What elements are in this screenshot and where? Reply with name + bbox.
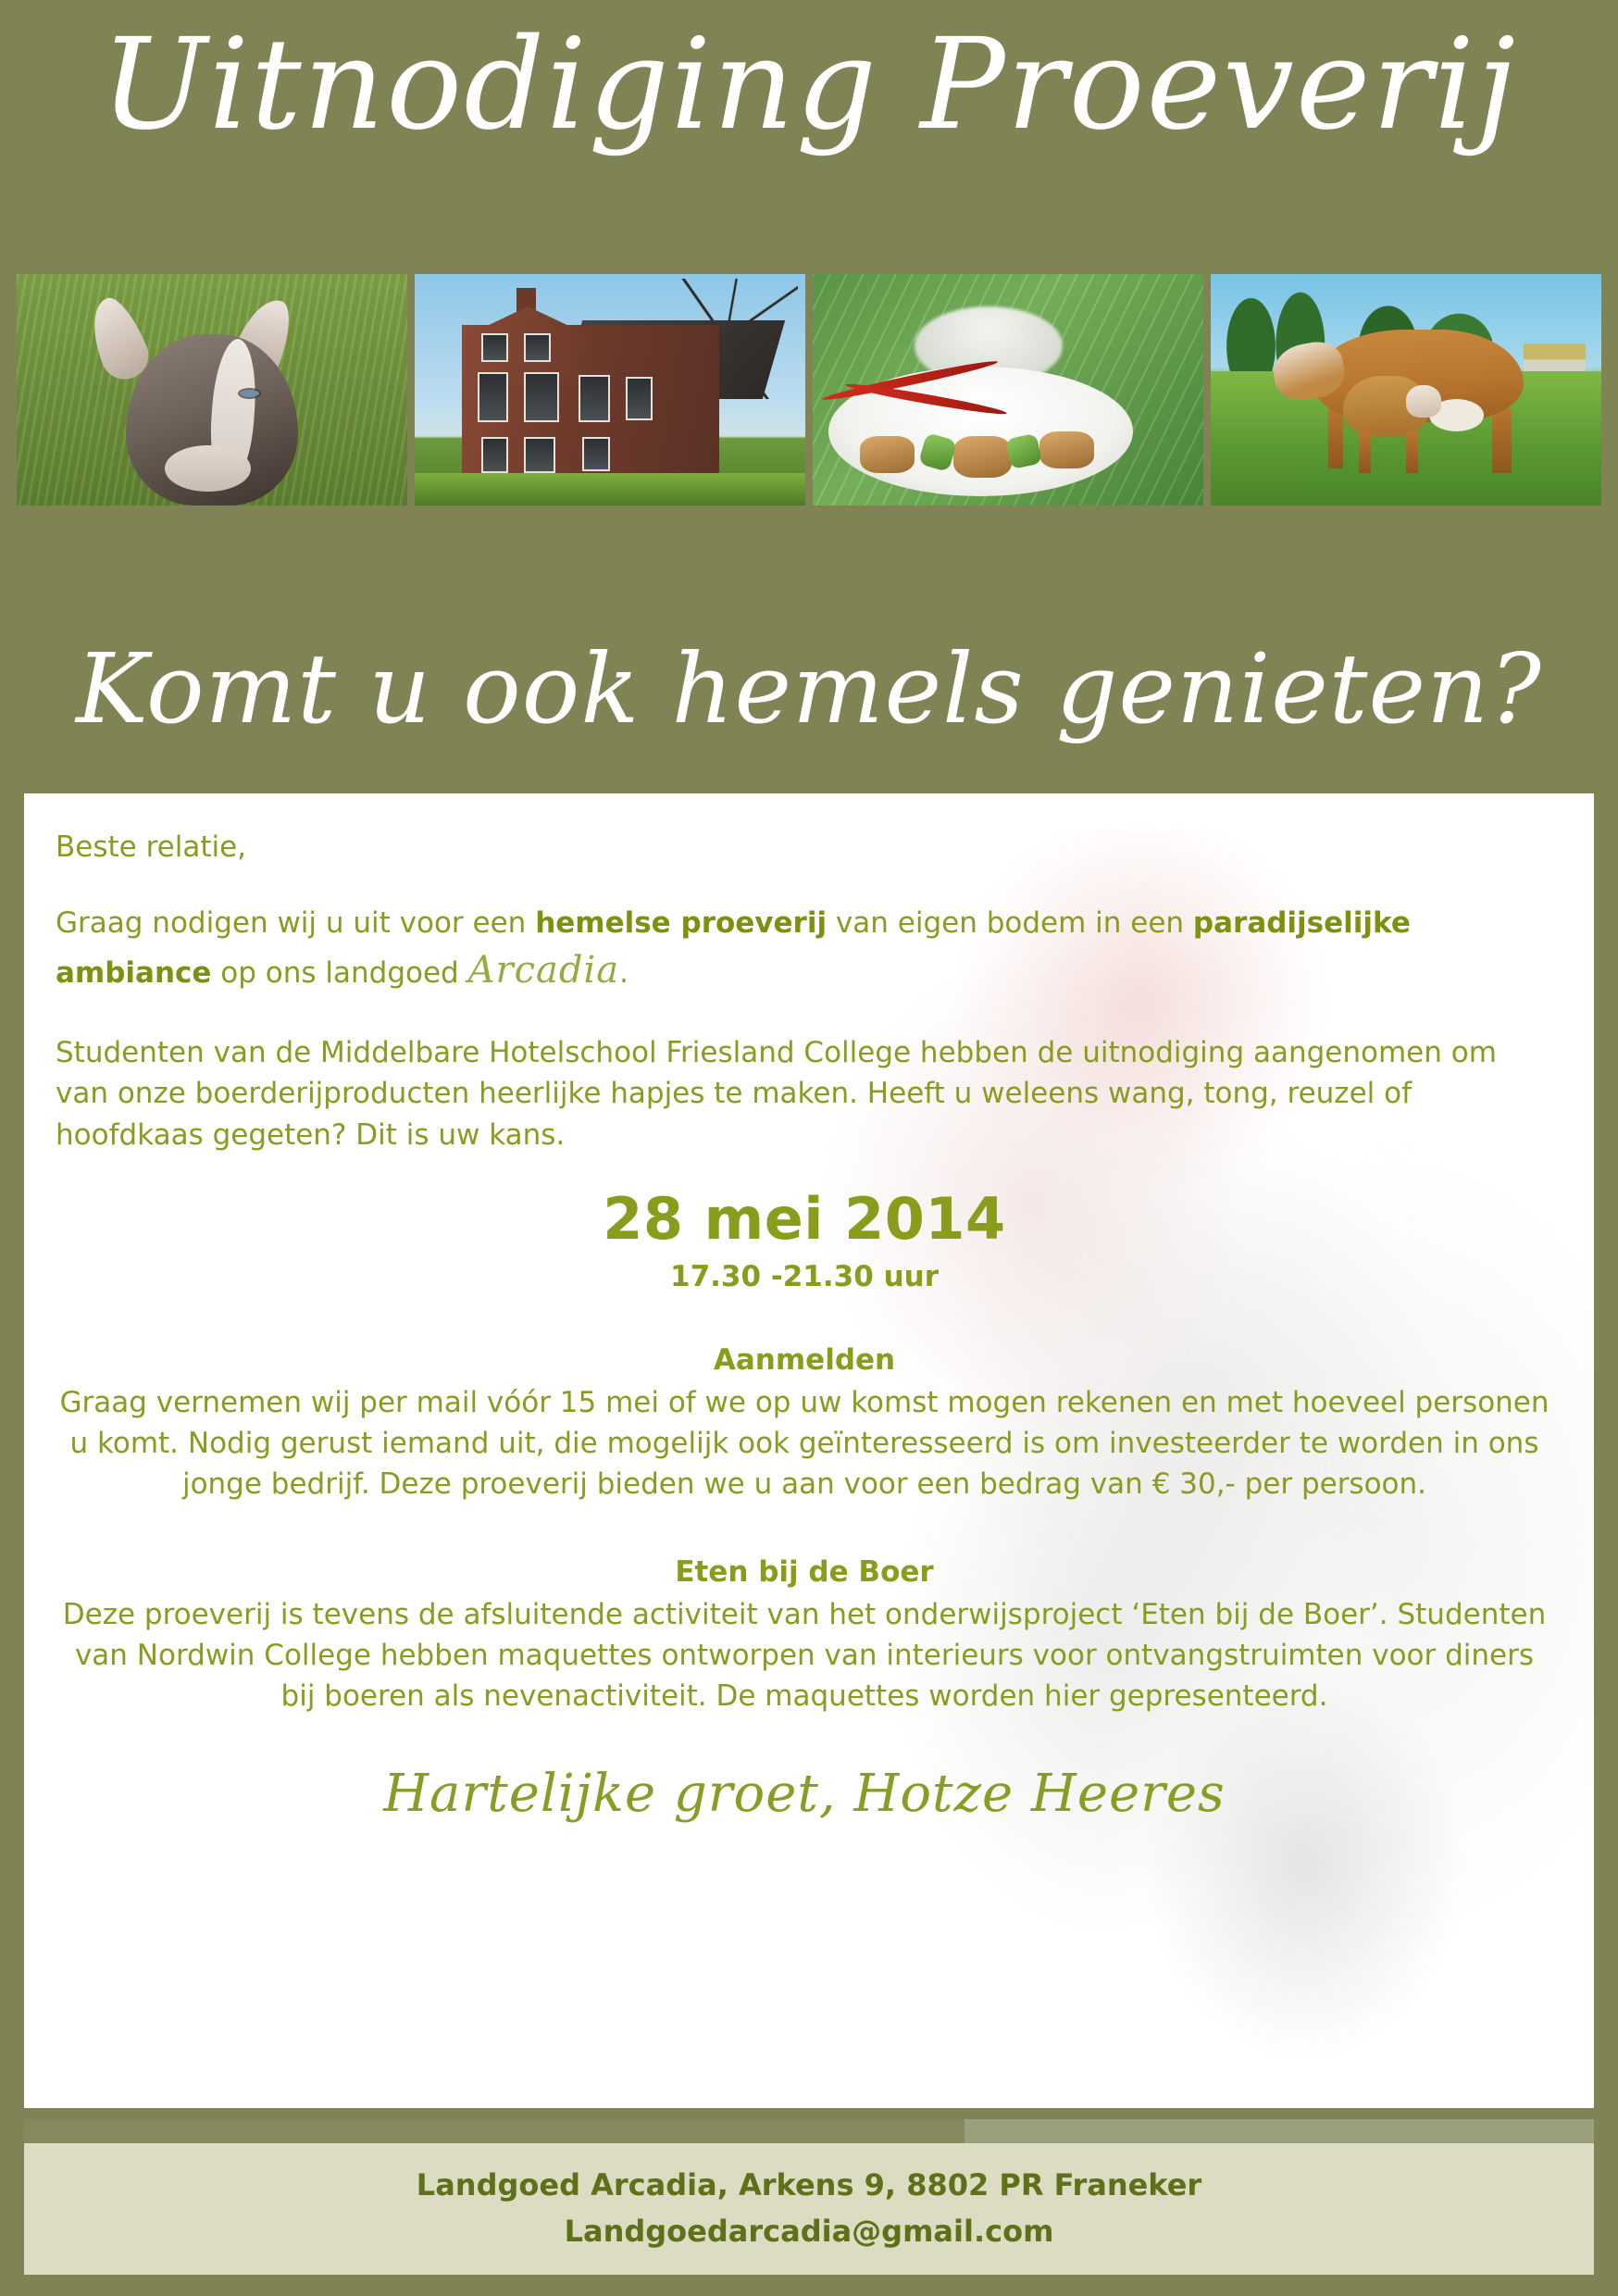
project-heading: Eten bij de Boer [56,1555,1553,1589]
calf-leg [1359,431,1371,473]
farmhouse-window [481,333,508,363]
page-subtitle: Komt u ook hemels genieten? [0,632,1618,745]
food-bite [860,436,915,473]
signup-heading: Aanmelden [56,1343,1553,1377]
signup-paragraph: Graag vernemen wij per mail vóór 15 mei … [56,1382,1553,1505]
cow-leg [1492,408,1512,473]
project-paragraph: Deze proeverij is tevens de afsluitende … [56,1594,1553,1717]
food-bite [953,436,1012,478]
footer: Landgoed Arcadia, Arkens 9, 8802 PR Fran… [24,2143,1594,2275]
salutation: Beste relatie, [56,827,1553,867]
farmhouse-window [582,437,609,471]
letter-content-box: Beste relatie, Graag nodigen wij u uit v… [24,793,1594,2108]
students-paragraph: Studenten van de Middelbare Hotelschool … [56,1032,1553,1155]
calf-leg [1406,431,1418,473]
farmhouse-photo [415,274,805,505]
signature-line: Hartelijke groet, Hotze Heeres [56,1764,1553,1824]
farmhouse-window [524,437,555,473]
cow-photo [1211,274,1601,505]
footer-divider-bar-right [965,2119,1594,2143]
event-time: 17.30 -21.30 uur [56,1260,1553,1293]
intro-text-end: . [619,956,629,990]
goat-eye [240,390,259,397]
page-title: Uitnodiging Proeverij [0,13,1618,157]
intro-text-post: op ons landgoed [211,956,467,990]
paragraph-spacer [56,997,1553,1032]
food-bite [1039,431,1094,468]
intro-bold-hemelse-proeverij: hemelse proeverij [535,906,827,940]
footer-address: Landgoed Arcadia, Arkens 9, 8802 PR Fran… [417,2163,1201,2209]
intro-text-mid: van eigen bodem in een [827,906,1193,940]
farmhouse-window [579,375,610,423]
event-date: 28 mei 2014 [56,1185,1553,1253]
calf-head [1406,385,1441,418]
photo-strip [17,274,1601,505]
food-photo [813,274,1203,505]
farmhouse-window [524,372,559,422]
footer-email[interactable]: Landgoedarcadia@gmail.com [565,2209,1054,2255]
intro-paragraph: Graag nodigen wij u uit voor een hemelse… [56,903,1553,997]
invitation-flyer: Uitnodiging Proeverij [0,0,1618,2296]
goat-muzzle [165,445,251,492]
intro-text-pre: Graag nodigen wij u uit voor een [56,906,535,940]
farmhouse-lawn [415,473,805,505]
letter-body: Beste relatie, Graag nodigen wij u uit v… [24,793,1594,1824]
paragraph-spacer [56,867,1553,903]
estate-name-script: Arcadia [468,949,620,992]
farmhouse-window [524,333,551,363]
goat-photo [17,274,407,505]
footer-divider-bar-left [24,2119,965,2143]
farmhouse-window [481,437,508,473]
farmhouse-window [626,377,653,420]
cow-leg [1328,408,1344,468]
farmhouse-window [478,372,509,422]
